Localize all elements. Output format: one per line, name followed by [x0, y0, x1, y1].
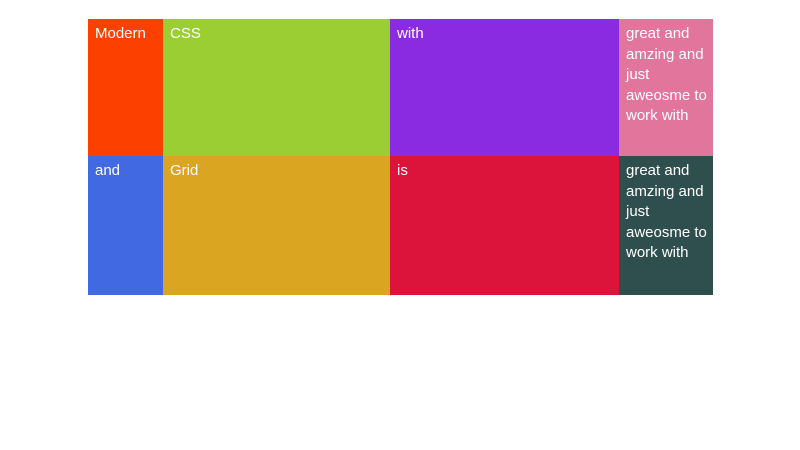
css-grid-container: Modern CSS with great and amzing and jus… [88, 19, 713, 295]
grid-cell-2-label: CSS [170, 24, 384, 45]
grid-cell-3: with [390, 19, 619, 156]
grid-cell-5: and [88, 156, 163, 295]
grid-cell-4: great and amzing and just aweosme to wor… [619, 19, 713, 156]
grid-cell-6-label: Grid [170, 161, 384, 182]
grid-cell-8-label: great and amzing and just aweosme to wor… [626, 161, 707, 264]
grid-cell-7-label: is [397, 161, 613, 182]
grid-cell-6: Grid [163, 156, 390, 295]
grid-cell-8: great and amzing and just aweosme to wor… [619, 156, 713, 295]
grid-cell-2: CSS [163, 19, 390, 156]
grid-cell-5-label: and [95, 161, 157, 182]
grid-cell-1: Modern [88, 19, 163, 156]
grid-cell-3-label: with [397, 24, 613, 45]
grid-cell-7: is [390, 156, 619, 295]
grid-cell-4-label: great and amzing and just aweosme to wor… [626, 24, 707, 127]
page-root: Modern CSS with great and amzing and jus… [0, 0, 800, 450]
grid-cell-1-label: Modern [95, 24, 157, 45]
